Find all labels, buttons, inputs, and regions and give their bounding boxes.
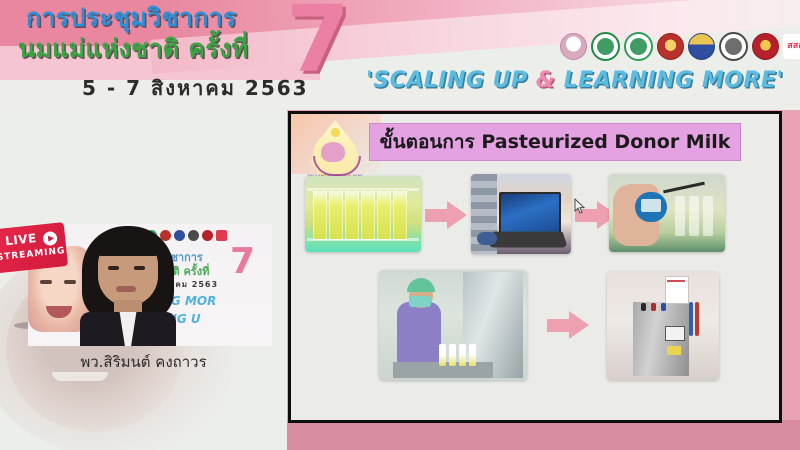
presenter-eye-left xyxy=(108,266,119,270)
slide-background-lower xyxy=(287,420,800,450)
milk-bottle xyxy=(703,196,713,236)
backdrop-logo-7 xyxy=(202,230,213,241)
tagline-ampersand: & xyxy=(536,68,556,93)
machine-label xyxy=(667,346,681,355)
sponsor-logo-strip: สสส xyxy=(560,28,792,64)
wall-sign-text-line xyxy=(667,280,685,282)
surgical-cap xyxy=(407,278,435,292)
backdrop-logo-8 xyxy=(216,230,227,241)
mouse-pointer xyxy=(574,198,586,215)
presenter-person xyxy=(76,224,180,346)
logo-inner-mark xyxy=(630,38,647,55)
face-mask xyxy=(409,296,431,307)
flow-arrow-icon xyxy=(547,310,589,340)
conference-title-line2: นมแม่แห่งชาติ ครั้งที่ xyxy=(18,33,308,64)
milk-bottle xyxy=(689,196,699,236)
speaker-name: พว.สิริมนต์ คงถาวร xyxy=(0,350,287,374)
logo-inner-mark xyxy=(597,38,614,55)
laptop-screen xyxy=(499,192,561,234)
streaming-label: STREAMING xyxy=(0,246,66,263)
milk-vial xyxy=(439,344,446,366)
conference-dates: 5 - 7 สิงหาคม 2563 xyxy=(82,72,309,104)
national-institute-logo xyxy=(719,32,748,61)
tagline-suffix: LEARNING MORE' xyxy=(555,68,783,93)
conference-edition-number: 7 xyxy=(286,0,350,86)
slide-stage: การประชุมวิชาการ นมแม่แห่งชาติ ครั้งที่ … xyxy=(0,0,800,450)
ministry-education-logo xyxy=(688,33,715,60)
photo-milk-bottles-storage xyxy=(305,176,421,252)
milk-vial xyxy=(469,344,476,366)
conference-tagline: 'SCALING UP & LEARNING MORE' xyxy=(366,68,784,93)
arrow-shaft xyxy=(547,319,571,332)
machine-knob xyxy=(651,303,656,311)
conference-header-banner: การประชุมวิชาการ นมแม่แห่งชาติ ครั้งที่ … xyxy=(0,0,800,110)
droplet-highlight-icon xyxy=(331,128,340,137)
presenter-video-zone: การประชุมวิชาการ นมแม่แห่งชาติ ครั้งที่ … xyxy=(0,110,287,450)
thermometer-display xyxy=(641,199,661,212)
presenter-eye-right xyxy=(134,266,145,270)
control-panel-display xyxy=(665,326,685,341)
play-icon xyxy=(42,231,57,246)
photo-laptop-record-keeping xyxy=(471,174,571,254)
milk-vial xyxy=(449,344,456,366)
backdrop-child-eye-left xyxy=(40,280,52,284)
milk-vial xyxy=(459,344,466,366)
milk-bottle xyxy=(675,196,685,236)
live-streaming-badge: LIVE STREAMING xyxy=(0,222,68,274)
backdrop-logo-6 xyxy=(188,230,199,241)
presenter-mouth xyxy=(116,286,136,292)
department-health-logo xyxy=(624,32,653,61)
arrow-shaft xyxy=(425,209,449,222)
slide-title-banner: ขั้นตอนการ Pasteurized Donor Milk xyxy=(369,123,741,161)
red-hose xyxy=(695,302,699,336)
photo-pasteurizer-machine xyxy=(607,272,719,380)
ministry-public-health-logo xyxy=(591,32,620,61)
red-royal-crest-logo xyxy=(752,33,779,60)
conference-title-line1: การประชุมวิชาการ xyxy=(26,2,294,33)
flow-arrow-icon xyxy=(425,200,467,230)
milk-bottle xyxy=(329,190,343,240)
presenter-fringe xyxy=(94,232,162,256)
presentation-slide[interactable]: THAILAND HUMAN MILK BANK ขั้นตอนการ Past… xyxy=(288,111,782,423)
slide-title-text: ขั้นตอนการ Pasteurized Donor Milk xyxy=(380,127,731,157)
arrow-head xyxy=(569,311,589,339)
photo-nurse-laminar-hood xyxy=(379,270,527,380)
tagline-prefix: 'SCALING UP xyxy=(366,68,536,93)
computer-mouse xyxy=(477,232,497,245)
logo-inner-mark xyxy=(725,38,742,55)
milk-bottle xyxy=(361,190,375,240)
milk-bottle xyxy=(377,190,391,240)
milk-bottle xyxy=(345,190,359,240)
backdrop-child-eye-right xyxy=(64,280,76,284)
machine-knob xyxy=(661,303,666,311)
blue-hose xyxy=(689,302,693,336)
machine-knob xyxy=(641,303,646,311)
thai-royal-seal-logo xyxy=(657,33,684,60)
backdrop-child-mouth xyxy=(46,306,72,318)
milk-bottle xyxy=(313,190,327,240)
arrow-head xyxy=(447,201,467,229)
thaihealth-sss-text: สสส xyxy=(783,34,800,51)
nurse-scrubs xyxy=(397,302,441,364)
thaihealth-sss-logo: สสส xyxy=(783,34,800,59)
photo-temperature-probe-check xyxy=(609,174,725,252)
thermometer-probe xyxy=(663,182,705,194)
milk-bottle xyxy=(393,190,407,240)
laptop-keyboard xyxy=(488,232,568,248)
live-label: LIVE xyxy=(4,231,37,248)
royal-emblem-logo xyxy=(560,33,587,60)
backdrop-edition-number: 7 xyxy=(230,244,255,280)
